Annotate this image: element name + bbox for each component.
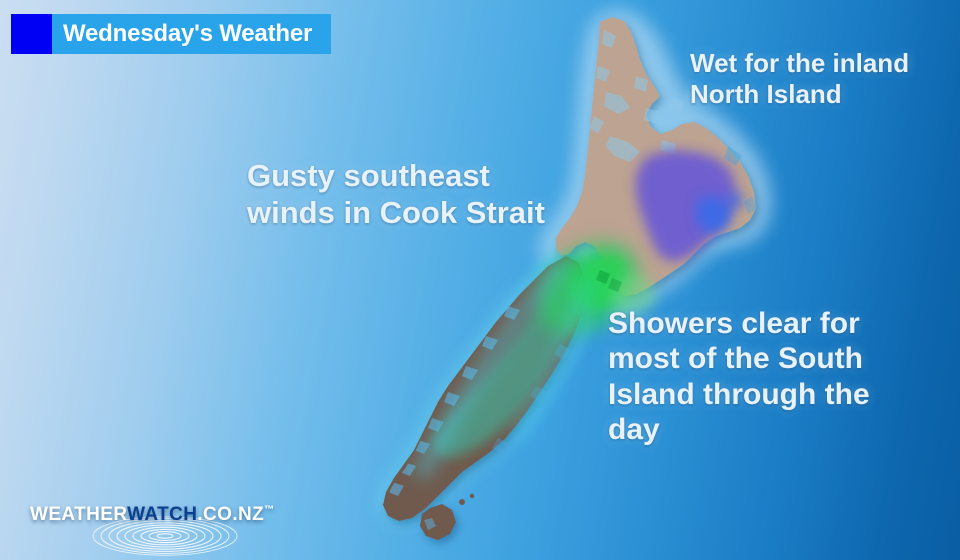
logo-part-watch: WATCH — [127, 504, 197, 525]
annotation-north-island-wet: Wet for the inland North Island — [690, 48, 960, 109]
title-bar: Wednesday's Weather — [52, 14, 331, 54]
logo-part-domain: .CO.NZ — [197, 504, 264, 525]
title-banner: Wednesday's Weather — [11, 14, 331, 54]
annotation-cook-strait-wind: Gusty southeast winds in Cook Strait — [247, 158, 647, 231]
logo-part-weather: WEATHER — [30, 504, 127, 525]
weatherwatch-logo[interactable]: WEATHERWATCH.CO.NZ™ — [30, 500, 270, 548]
title-color-swatch — [11, 14, 52, 54]
page-title: Wednesday's Weather — [63, 22, 312, 46]
logo-trademark-symbol: ™ — [264, 505, 274, 516]
logo-wordmark: WEATHERWATCH.CO.NZ™ — [30, 504, 275, 526]
weather-map-graphic: Wednesday's Weather Wet for the inland N… — [0, 0, 960, 560]
annotation-south-island-showers: Showers clear for most of the South Isla… — [608, 306, 958, 448]
